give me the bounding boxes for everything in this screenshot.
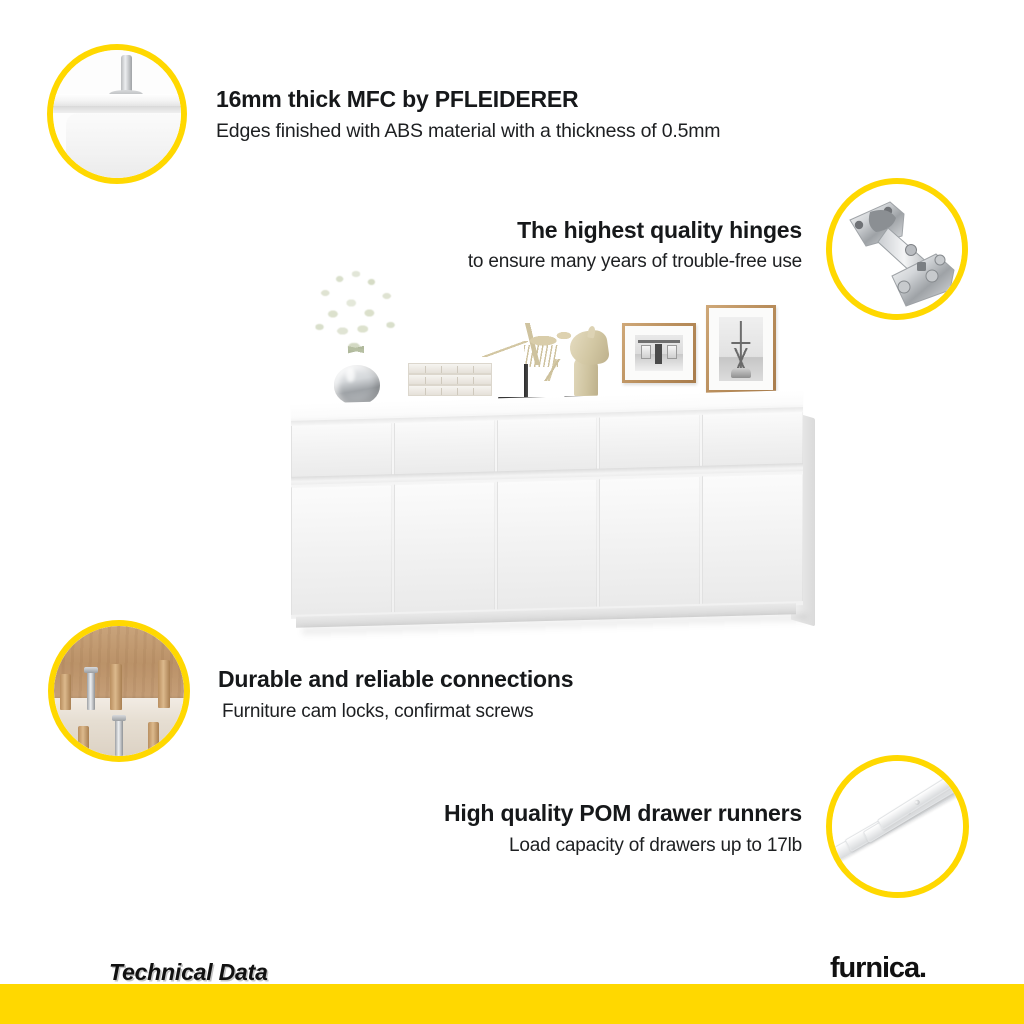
drawer-front[interactable] [497, 414, 598, 475]
cabinet-hinge-photo-icon [832, 184, 962, 314]
callout-runners: High quality POM drawer runners Load cap… [330, 798, 802, 859]
callout-mfc-title: 16mm thick MFC by PFLEIDERER [216, 84, 836, 114]
sideboard-front [291, 405, 803, 619]
callout-connections-title: Durable and reliable connections [218, 664, 778, 695]
framed-shopfront-photo-icon [622, 323, 696, 383]
door-front[interactable] [291, 484, 392, 615]
drawer-front[interactable] [702, 408, 803, 469]
door-front[interactable] [394, 481, 495, 612]
horse-head-sculpture-icon [558, 325, 614, 403]
callout-hinges-title: The highest quality hinges [350, 215, 802, 246]
stacked-books-icon [408, 363, 492, 397]
cabinet-edge-photo-icon [53, 50, 181, 178]
cam-lock-badge [48, 620, 190, 762]
footer-accent-band [0, 984, 1024, 1024]
drawer-front[interactable] [291, 419, 392, 480]
door-front[interactable] [599, 476, 700, 607]
sideboard-door-row [291, 473, 803, 615]
callout-connections: Durable and reliable connections Furnitu… [218, 664, 778, 725]
glass-vase-with-greenery-icon [308, 269, 404, 403]
product-sideboard [282, 255, 820, 655]
drawer-front[interactable] [599, 411, 700, 472]
drawer-front[interactable] [394, 416, 495, 477]
brand-logo: furnica. [830, 952, 926, 985]
hinge-badge [826, 178, 968, 320]
page-title: Technical Data [109, 959, 268, 986]
drawer-runner-photo-icon [832, 761, 963, 892]
door-front[interactable] [497, 479, 598, 610]
mfc-edge-badge [47, 44, 187, 184]
callout-mfc: 16mm thick MFC by PFLEIDERER Edges finis… [216, 84, 836, 145]
callout-runners-subtitle: Load capacity of drawers up to 17lb [330, 832, 802, 859]
door-front[interactable] [702, 473, 803, 604]
callout-mfc-subtitle: Edges finished with ABS material with a … [216, 117, 836, 145]
callout-connections-subtitle: Furniture cam locks, confirmat screws [218, 698, 778, 725]
framed-eiffel-tower-photo-icon [706, 305, 776, 393]
infographic-page: 16mm thick MFC by PFLEIDERER Edges finis… [0, 0, 1024, 1024]
drawer-runner-badge [826, 755, 969, 898]
cam-lock-dowel-photo-icon [54, 626, 184, 756]
callout-runners-title: High quality POM drawer runners [330, 798, 802, 829]
